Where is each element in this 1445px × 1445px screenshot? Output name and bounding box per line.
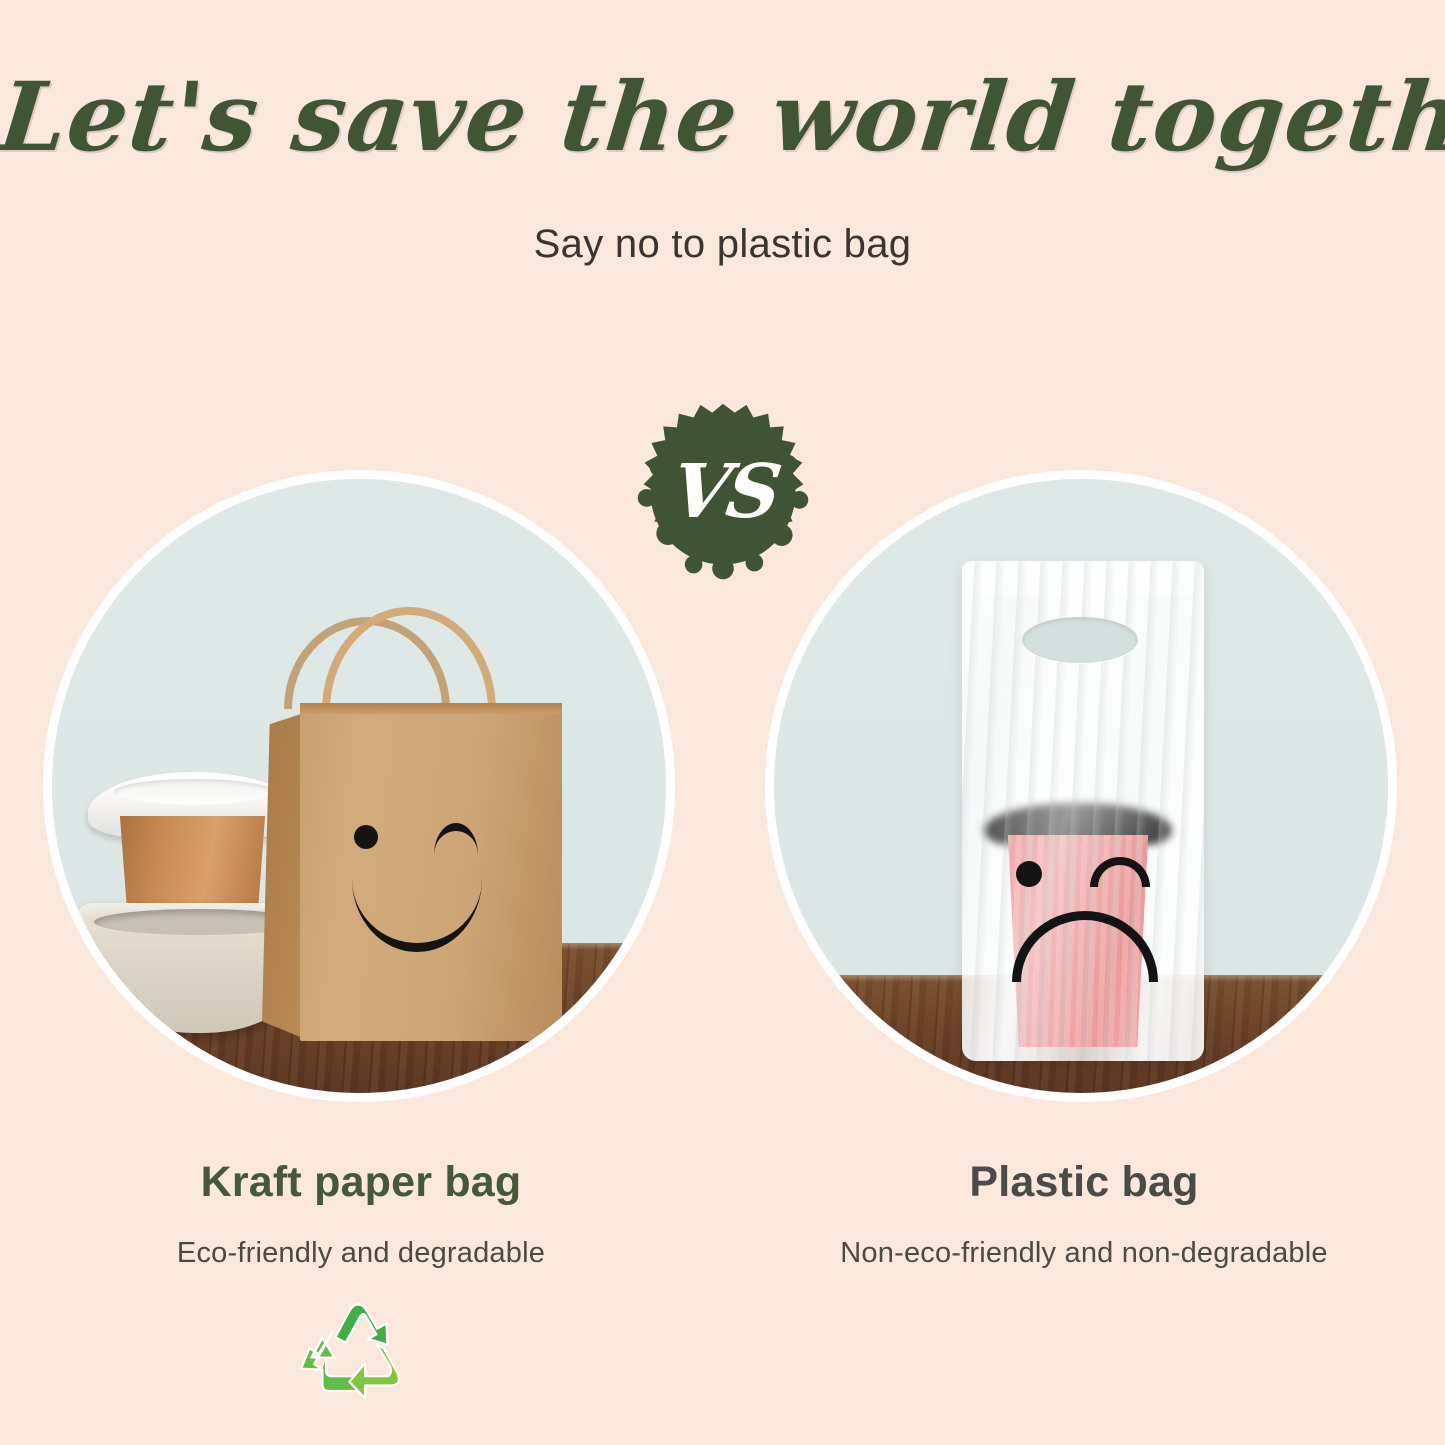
smiley-mouth-icon <box>352 879 482 952</box>
versus-label: VS <box>614 394 838 590</box>
plastic-caption-block: Plastic bag Non-eco-friendly and non-deg… <box>723 1158 1445 1270</box>
plastic-bag-image <box>765 470 1397 1102</box>
plastic-bag-title: Plastic bag <box>723 1158 1445 1207</box>
sad-face-eye-icon <box>1016 861 1042 887</box>
page-subtitle: Say no to plastic bag <box>0 222 1445 267</box>
smiley-wink-eye-icon <box>434 823 478 855</box>
plastic-scene-background <box>774 479 1388 1093</box>
recycle-icon <box>298 1300 410 1404</box>
poster-canvas: Let's save the world together Say no to … <box>0 0 1445 1445</box>
kraft-paper-bag-image <box>43 470 675 1102</box>
plastic-bag <box>962 561 1204 1061</box>
recycle-icon-wrapper <box>298 1300 410 1404</box>
kraft-paper-bag <box>300 693 562 1041</box>
plastic-bag-die-cut-handle <box>1022 617 1138 663</box>
kraft-caption-block: Kraft paper bag Eco-friendly and degrada… <box>0 1158 722 1270</box>
kraft-scene-background <box>52 479 666 1093</box>
page-title: Let's save the world together <box>0 62 1445 173</box>
kraft-paper-bag-title: Kraft paper bag <box>0 1158 722 1207</box>
kraft-bag-front-panel <box>300 703 562 1041</box>
kraft-paper-bag-subtitle: Eco-friendly and degradable <box>0 1237 722 1270</box>
plastic-bag-subtitle: Non-eco-friendly and non-degradable <box>723 1237 1445 1270</box>
smiley-eye-icon <box>354 825 378 849</box>
versus-badge: VS <box>625 396 821 592</box>
